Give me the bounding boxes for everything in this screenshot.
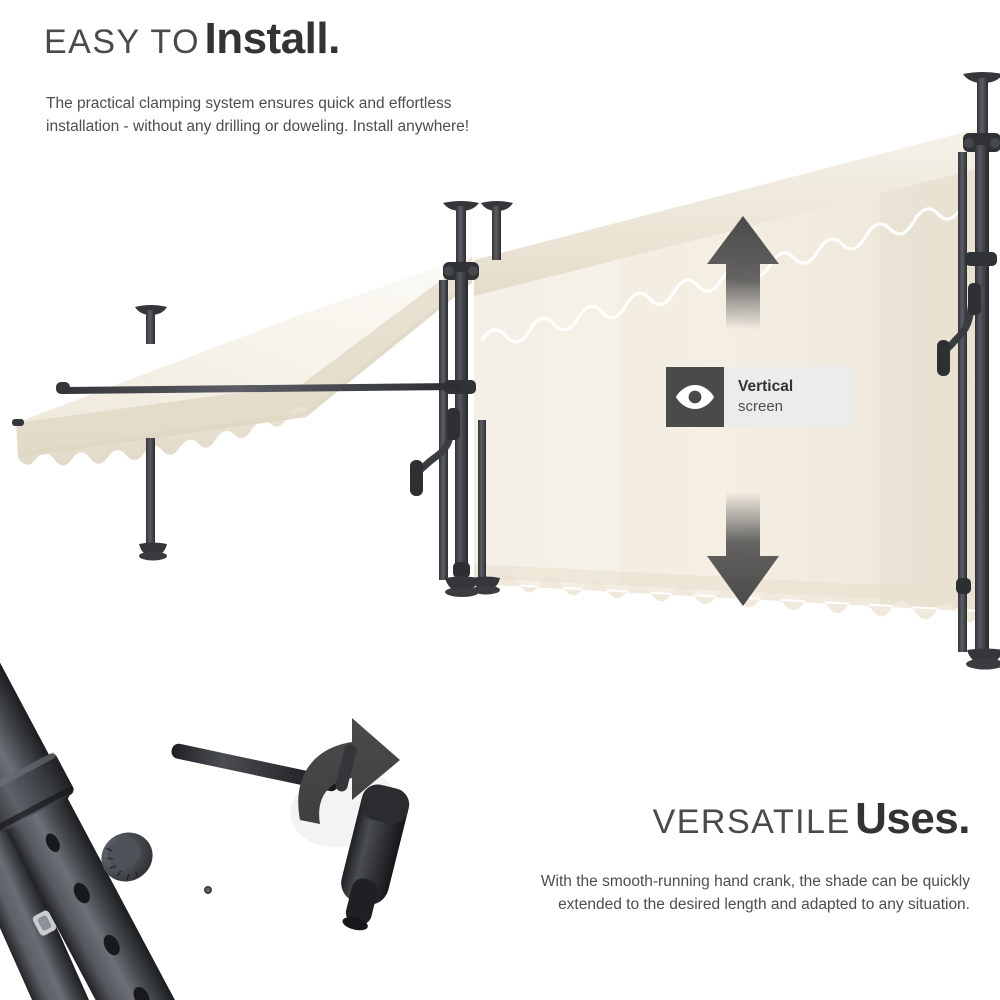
install-heading-light: EASY TO: [44, 23, 200, 61]
uses-heading-bold: Uses.: [855, 794, 970, 843]
install-heading: EASY TO Install.: [44, 14, 340, 64]
vertical-screen-badge: Vertical screen: [666, 367, 854, 427]
badge-text-panel: Vertical screen: [724, 367, 854, 427]
rotation-arrow-detail: [170, 718, 412, 935]
uses-heading-light: VERSATILE: [653, 803, 851, 841]
install-heading-bold: Install.: [204, 14, 339, 63]
install-body-text: The practical clamping system ensures qu…: [46, 92, 476, 138]
uses-heading: VERSATILE Uses.: [653, 794, 970, 844]
eye-icon: [666, 367, 724, 427]
marketing-image: Vertical screen EASY TO Install. The pra…: [0, 0, 1000, 1000]
badge-subtitle: screen: [738, 397, 838, 417]
uses-body-text: With the smooth-running hand crank, the …: [540, 870, 970, 916]
pole-closeup-detail: [0, 0, 1000, 1000]
badge-title: Vertical: [738, 377, 838, 397]
